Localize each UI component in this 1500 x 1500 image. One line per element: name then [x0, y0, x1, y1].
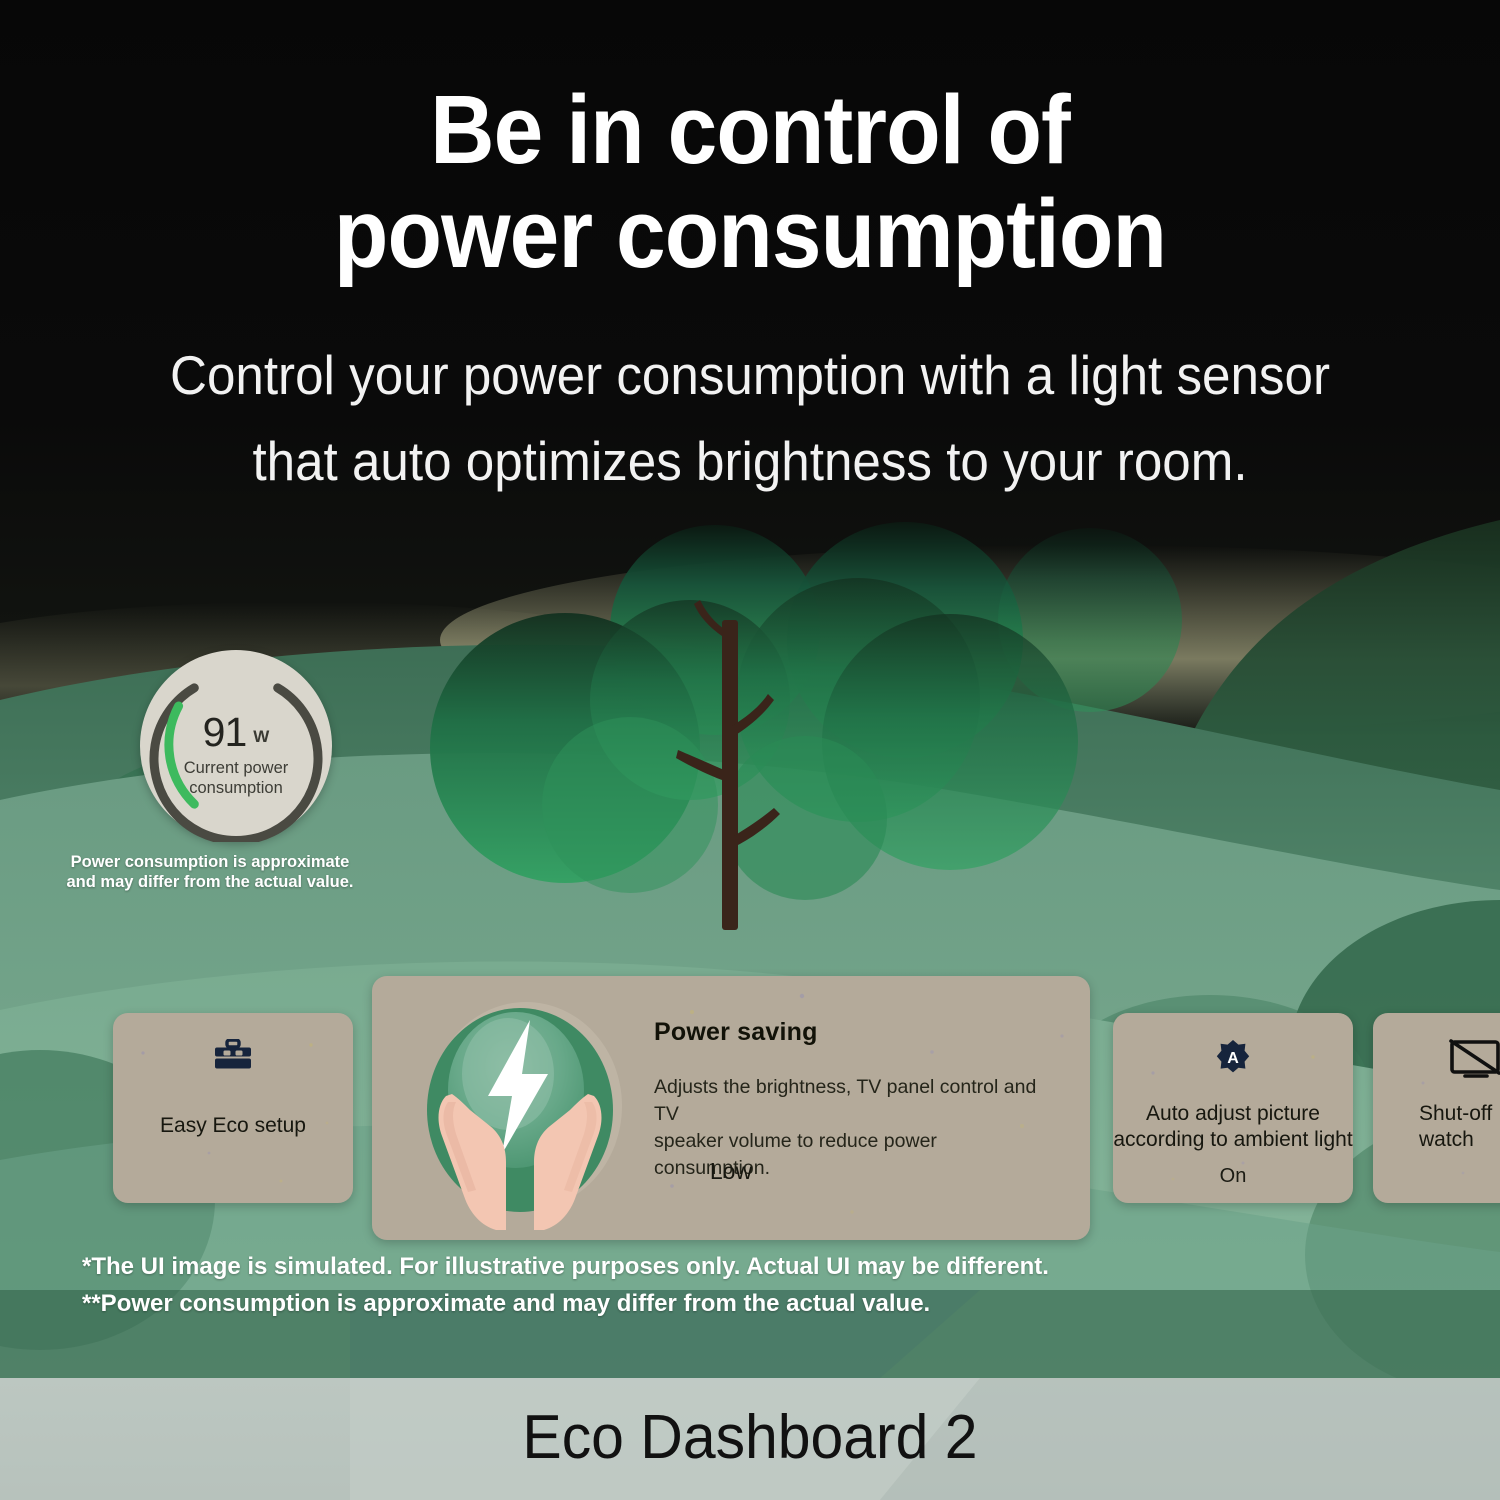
- hero-title-line-1: Be in control of: [60, 78, 1440, 182]
- card-power-saving-title: Power saving: [654, 1018, 818, 1047]
- hero-title-line-2: power consumption: [60, 182, 1440, 286]
- card-power-saving-state: Low: [372, 1158, 1090, 1185]
- shut-off-label-line-2: watch: [1419, 1127, 1500, 1153]
- hero-section: Be in control of power consumption Contr…: [0, 0, 1500, 560]
- gauge-caption: Current power consumption: [140, 758, 332, 798]
- shut-off-label-line-1: Shut-off: [1419, 1101, 1500, 1127]
- gauge-note-line-1: Power consumption is approximate: [60, 852, 360, 872]
- power-saving-description-line-1: Adjusts the brightness, TV panel control…: [654, 1074, 1054, 1128]
- hero-subtitle-line-2: that auto optimizes brightness to your r…: [53, 418, 1448, 504]
- disclaimer-line-2: **Power consumption is approximate and m…: [82, 1285, 1202, 1322]
- card-auto-adjust-label: Auto adjust picture according to ambient…: [1113, 1101, 1353, 1153]
- auto-adjust-label-line-1: Auto adjust picture: [1113, 1101, 1353, 1127]
- card-auto-adjust-picture[interactable]: A Auto adjust picture according to ambie…: [1113, 1013, 1353, 1203]
- toolbox-icon: [113, 1039, 353, 1076]
- gauge-unit: W: [253, 727, 269, 746]
- gauge-caption-line-1: Current power: [140, 758, 332, 778]
- power-consumption-gauge: 91W Current power consumption: [140, 650, 332, 842]
- card-auto-adjust-state: On: [1113, 1165, 1353, 1188]
- card-easy-eco-setup[interactable]: Easy Eco setup: [113, 1013, 353, 1203]
- card-easy-eco-setup-label: Easy Eco setup: [113, 1113, 353, 1139]
- card-power-saving[interactable]: Power saving Adjusts the brightness, TV …: [372, 976, 1090, 1240]
- auto-adjust-label-line-2: according to ambient light: [1113, 1127, 1353, 1153]
- tv-off-icon: [1449, 1039, 1500, 1084]
- bottom-bar: Eco Dashboard 2: [0, 1378, 1500, 1500]
- svg-text:A: A: [1227, 1050, 1239, 1067]
- eco-dashboard-promo: Be in control of power consumption Contr…: [0, 0, 1500, 1500]
- gauge-note-line-2: and may differ from the actual value.: [60, 872, 360, 892]
- hero-subtitle: Control your power consumption with a li…: [53, 332, 1448, 504]
- gauge-note: Power consumption is approximate and may…: [60, 852, 360, 892]
- card-shut-off-label: Shut-off watch: [1419, 1101, 1500, 1153]
- gauge-readout: 91W Current power consumption: [140, 712, 332, 798]
- bottom-bar-title: Eco Dashboard 2: [38, 1398, 1463, 1478]
- auto-brightness-badge-icon: A: [1113, 1039, 1353, 1082]
- page-title: Be in control of power consumption: [60, 78, 1440, 286]
- gauge-value: 91: [203, 709, 247, 755]
- hands-holding-energy-icon: [408, 986, 638, 1230]
- disclaimer-text: *The UI image is simulated. For illustra…: [82, 1248, 1202, 1322]
- card-shut-off-when-not-watching[interactable]: Shut-off watch: [1373, 1013, 1500, 1203]
- gauge-caption-line-2: consumption: [140, 778, 332, 798]
- hero-subtitle-line-1: Control your power consumption with a li…: [53, 332, 1448, 418]
- disclaimer-line-1: *The UI image is simulated. For illustra…: [82, 1248, 1202, 1285]
